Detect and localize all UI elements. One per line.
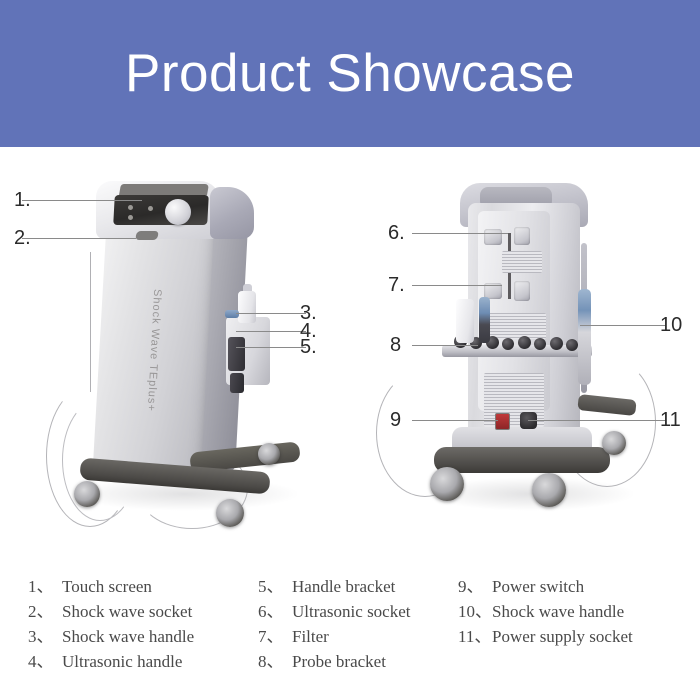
screen-bezel — [119, 184, 209, 195]
ultrasonic-handle[interactable] — [479, 297, 490, 343]
shock-wave-machine-front-view — [380, 147, 670, 567]
legend-item-10: 10、 Shock wave handle — [458, 597, 693, 622]
probe — [550, 337, 563, 350]
probe — [518, 336, 531, 349]
legend-number: 4、 — [28, 647, 62, 672]
legend-number: 3、 — [28, 622, 62, 647]
legend-label: Power switch — [492, 577, 584, 597]
socket-port[interactable] — [514, 227, 530, 245]
legend-column-1: 1、 Touch screen 2、 Shock wave socket 3、 … — [28, 572, 258, 672]
legend-label: Ultrasonic socket — [292, 602, 411, 622]
legend-item-3: 3、 Shock wave handle — [28, 622, 258, 647]
legend-label: Power supply socket — [492, 627, 633, 647]
legend-item-1: 1、 Touch screen — [28, 572, 258, 597]
shock-wave-handle[interactable] — [228, 337, 245, 371]
caster-wheel — [430, 467, 464, 501]
cable-vertical — [90, 252, 91, 392]
legend-item-4: 4、 Ultrasonic handle — [28, 647, 258, 672]
legend-number: 8、 — [258, 647, 292, 672]
shock-wave-machine-side-view: Shock Wave TEplus+ — [40, 147, 340, 567]
legend-item-9: 9、 Power switch — [458, 572, 693, 597]
legend-column-2: 5、 Handle bracket 6、 Ultrasonic socket 7… — [258, 572, 458, 672]
legend-column-3: 9、 Power switch 10、 Shock wave handle 11… — [458, 572, 693, 647]
indicator-dot — [128, 215, 133, 220]
caster-wheel — [532, 473, 566, 507]
gel-bottle — [238, 291, 256, 323]
caster-wheel — [74, 481, 100, 507]
leader-line-11 — [528, 420, 666, 421]
leader-line-7 — [412, 285, 502, 286]
leader-line-8 — [412, 345, 478, 346]
machine-base — [434, 447, 610, 473]
ultrasonic-socket[interactable] — [484, 229, 502, 245]
leader-line-4 — [236, 331, 306, 332]
shock-wave-socket[interactable] — [135, 231, 159, 240]
indicator-dot — [148, 206, 153, 211]
probe — [502, 338, 514, 350]
gel-bottle — [456, 299, 474, 343]
legend-number: 10、 — [458, 597, 492, 622]
caster-wheel — [602, 431, 626, 455]
callout-label-1: 1. — [14, 190, 31, 210]
page-title: Product Showcase — [125, 43, 575, 104]
leader-line-1 — [22, 200, 142, 201]
legend-item-2: 2、 Shock wave socket — [28, 597, 258, 622]
legend-label: Shock wave handle — [62, 627, 194, 647]
callout-label-10: 10 — [660, 315, 682, 335]
shock-wave-handle[interactable] — [578, 289, 591, 385]
ultrasonic-handle[interactable] — [225, 310, 239, 318]
machine-head-side — [210, 187, 254, 239]
legend-number: 6、 — [258, 597, 292, 622]
caster-wheel — [258, 443, 280, 465]
legend-label: Handle bracket — [292, 577, 395, 597]
legend-label: Shock wave handle — [492, 602, 624, 622]
legend-label: Shock wave socket — [62, 602, 192, 622]
leader-line-3 — [236, 313, 306, 314]
callout-label-6: 6. — [388, 223, 405, 243]
socket-port[interactable] — [514, 281, 530, 301]
legend-item-7: 7、 Filter — [258, 622, 458, 647]
callout-label-2: 2. — [14, 228, 31, 248]
legend-number: 1、 — [28, 572, 62, 597]
leader-line-10 — [580, 325, 666, 326]
leader-line-9 — [412, 420, 498, 421]
legend-label: Touch screen — [62, 577, 152, 597]
control-knob[interactable] — [165, 199, 191, 225]
power-switch[interactable] — [495, 413, 510, 430]
callout-label-8: 8 — [390, 335, 401, 355]
shock-wave-handle-tip — [230, 373, 244, 393]
product-illustration-area: Shock Wave TEplus+ — [0, 147, 700, 567]
legend-number: 11、 — [458, 622, 492, 647]
vent-grille — [502, 251, 542, 273]
callout-label-5: 5. — [300, 337, 317, 357]
legend-item-5: 5、 Handle bracket — [258, 572, 458, 597]
legend-number: 5、 — [258, 572, 292, 597]
legend-number: 2、 — [28, 597, 62, 622]
indicator-dot — [128, 205, 133, 210]
probe — [566, 339, 578, 351]
legend-label: Probe bracket — [292, 652, 386, 672]
leader-line-5 — [236, 347, 306, 348]
callout-label-9: 9 — [390, 410, 401, 430]
callout-label-11: 11 — [660, 410, 681, 430]
caster-wheel — [216, 499, 244, 527]
legend-label: Ultrasonic handle — [62, 652, 182, 672]
legend-item-11: 11、 Power supply socket — [458, 622, 693, 647]
legend-item-8: 8、 Probe bracket — [258, 647, 458, 672]
legend: 1、 Touch screen 2、 Shock wave socket 3、 … — [0, 572, 700, 672]
legend-number: 7、 — [258, 622, 292, 647]
legend-label: Filter — [292, 627, 329, 647]
header-banner: Product Showcase — [0, 0, 700, 147]
callout-label-7: 7. — [388, 275, 405, 295]
leader-line-2 — [22, 238, 136, 239]
legend-item-6: 6、 Ultrasonic socket — [258, 597, 458, 622]
probe — [534, 338, 546, 350]
leader-line-6 — [412, 233, 508, 234]
legend-number: 9、 — [458, 572, 492, 597]
